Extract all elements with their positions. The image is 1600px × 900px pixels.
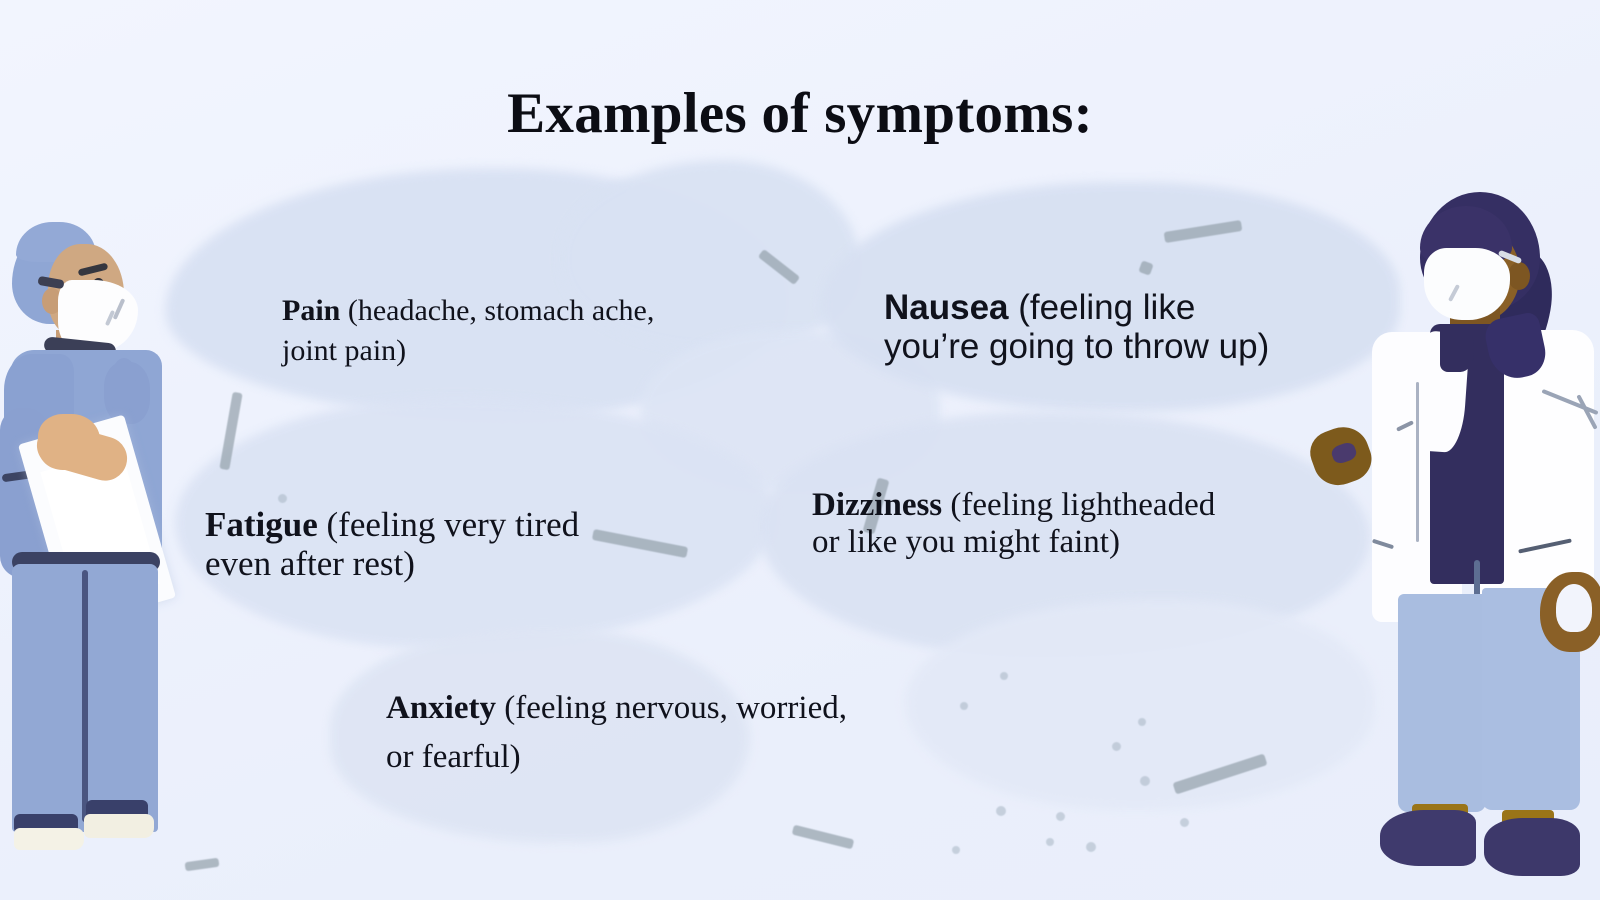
symptom-term: Anxiety (386, 690, 496, 726)
slide-canvas: Examples of symptoms: Pain (headache, st… (0, 0, 1600, 900)
symptom-term: Nausea (884, 288, 1009, 327)
decorative-dot (1046, 838, 1054, 846)
decorative-dot (1000, 672, 1008, 680)
symptom-item-fatigue: Fatigue (feeling very tired even after r… (205, 505, 625, 583)
left-shoe (1380, 810, 1476, 866)
decorative-dot (278, 494, 287, 503)
ear (1508, 262, 1530, 290)
left-pant-leg (1398, 594, 1486, 812)
symptom-term: Dizziness (812, 487, 942, 523)
nurse-illustration (0, 222, 175, 862)
pants-seam (82, 570, 88, 822)
right-shoe (84, 814, 154, 838)
decorative-dot (952, 846, 960, 854)
symptom-term: Fatigue (205, 505, 318, 544)
right-shoe (1484, 818, 1580, 876)
symptom-item-anxiety: Anxiety (feeling nervous, worried, or fe… (386, 684, 856, 782)
decorative-dot (1140, 776, 1150, 786)
decorative-dot (960, 702, 968, 710)
decorative-streak (185, 858, 220, 872)
symptom-item-nausea: Nausea (feeling like you’re going to thr… (884, 289, 1284, 366)
decorative-dot (1086, 842, 1096, 852)
inner-top-collar (1440, 324, 1474, 372)
right-hand-shadow (1556, 584, 1592, 632)
thumb (112, 358, 136, 394)
decorative-dot (1056, 812, 1065, 821)
decorative-dot (1112, 742, 1121, 751)
coat-seam (1416, 382, 1419, 542)
decorative-dot (1138, 718, 1146, 726)
decorative-dot (1180, 818, 1189, 827)
left-hand (38, 414, 100, 470)
symptom-item-dizziness: Dizziness (feeling lightheaded or like y… (812, 487, 1242, 561)
left-shoe (14, 828, 84, 850)
decorative-streak (792, 825, 855, 850)
decorative-dot (996, 806, 1006, 816)
doctor-illustration (1312, 192, 1600, 892)
symptom-item-pain: Pain (headache, stomach ache, joint pain… (282, 291, 662, 370)
symptom-term: Pain (282, 294, 340, 327)
page-title: Examples of symptoms: (0, 84, 1600, 144)
